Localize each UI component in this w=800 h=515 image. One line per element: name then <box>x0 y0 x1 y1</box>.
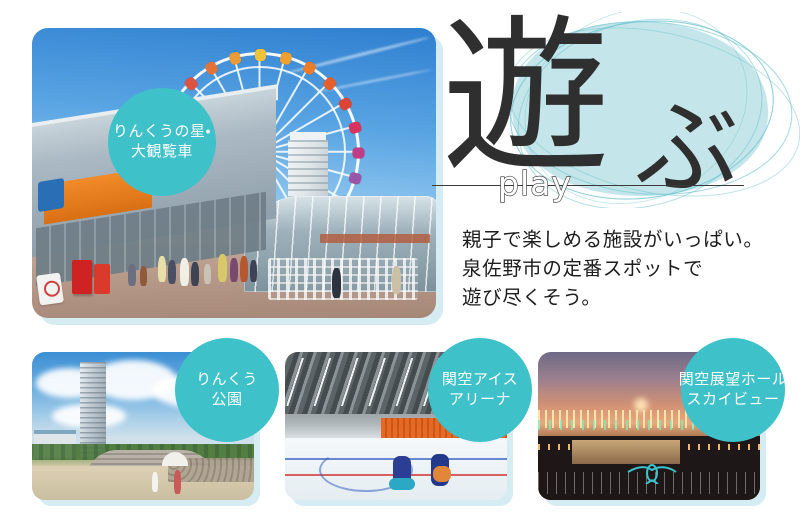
airplane-icon <box>624 458 680 484</box>
description-line-2: 泉佐野市の定番スポットで <box>462 255 792 284</box>
mascot-blue-base <box>389 478 415 490</box>
thumbnail-card-ice-arena[interactable]: 関空アイス アリーナ <box>285 352 507 500</box>
description-line-3: 遊び尽くそう。 <box>462 284 792 313</box>
badge-rinku-ferris-wheel[interactable]: りんくうの星・ 大観覧車 <box>108 88 216 196</box>
thumbnail-card-rinku-park[interactable]: りんくう 公園 <box>32 352 254 500</box>
no-smoking-sign <box>36 272 64 305</box>
title-block: 遊 ぶ play 親子で楽しめる施設がいっぱい。 泉佐野市の定番スポットで 遊び… <box>440 8 800 328</box>
ferris-wheel-scene <box>32 28 436 318</box>
badge-line-1: りんくう <box>196 370 258 390</box>
badge-line-1: りんくうの星・ <box>113 122 211 142</box>
title-kanji: 遊 <box>442 14 610 182</box>
badge-rinku-park[interactable]: りんくう 公園 <box>175 338 279 442</box>
badge-line-1: 関空展望ホール <box>679 370 788 390</box>
badge-line-1: 関空アイス <box>442 370 518 390</box>
blue-shop-sign <box>38 178 64 212</box>
thumbnail-card-sky-view[interactable]: 関空展望ホール スカイビュー <box>538 352 760 500</box>
play-section-banner: りんくうの星・ 大観覧車 <box>0 0 800 515</box>
red-sign-board <box>72 260 92 294</box>
title-underline <box>432 185 744 186</box>
hero-photo <box>32 28 436 318</box>
badge-line-2: 公園 <box>211 390 242 410</box>
title-romaji: play <box>498 164 572 203</box>
rotunda-signage <box>320 234 430 243</box>
badge-line-2: 大観覧車 <box>131 142 193 162</box>
red-sign-board-2 <box>94 264 110 294</box>
description-line-1: 親子で楽しめる施設がいっぱい。 <box>462 226 792 255</box>
badge-kanku-sky-view[interactable]: 関空展望ホール スカイビュー <box>681 338 785 442</box>
badge-line-2: アリーナ <box>449 390 511 410</box>
hero-photo-card[interactable]: りんくうの星・ 大観覧車 <box>32 28 436 318</box>
description-text: 親子で楽しめる施設がいっぱい。 泉佐野市の定番スポットで 遊び尽くそう。 <box>462 226 792 313</box>
mascot-orange-cape <box>433 466 451 482</box>
badge-line-2: スカイビュー <box>686 390 779 410</box>
badge-kanku-ice-arena[interactable]: 関空アイス アリーナ <box>428 338 532 442</box>
